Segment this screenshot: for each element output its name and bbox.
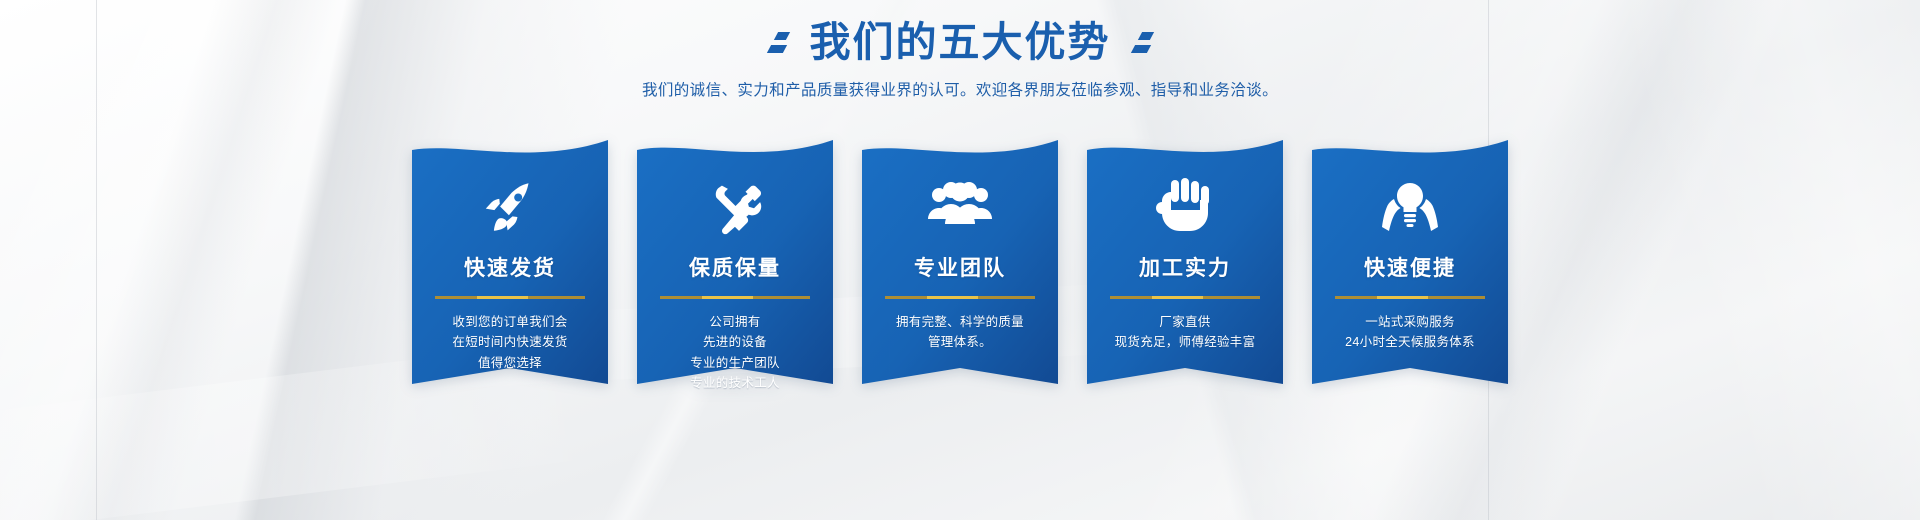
gold-divider <box>660 296 810 299</box>
rocket-icon <box>478 176 542 240</box>
description-line: 专业的生产团队 <box>690 353 780 373</box>
page-title: 我们的五大优势 <box>810 18 1111 66</box>
advantage-card-description: 公司拥有先进的设备专业的生产团队专业的技术工人 <box>690 312 780 393</box>
advantages-banner: 我们的五大优势 我们的诚信、实力和产品质量获得业界的认可。欢迎各界朋友莅临参观、… <box>0 0 1920 520</box>
description-line: 管理体系。 <box>896 332 1024 352</box>
description-line: 公司拥有 <box>690 312 780 332</box>
fist-hand-icon <box>1154 176 1216 240</box>
description-line: 一站式采购服务 <box>1345 312 1475 332</box>
advantage-card-description: 拥有完整、科学的质量管理体系。 <box>896 312 1024 353</box>
advantage-card[interactable]: 保质保量 公司拥有先进的设备专业的生产团队专业的技术工人 <box>637 140 833 398</box>
description-line: 收到您的订单我们会 <box>452 312 567 332</box>
advantage-card-title: 快速便捷 <box>1364 252 1456 282</box>
description-line: 拥有完整、科学的质量 <box>896 312 1024 332</box>
gold-divider <box>435 296 585 299</box>
advantage-card-title: 加工实力 <box>1139 252 1231 282</box>
advantage-card-content: 快速发货 收到您的订单我们会在短时间内快速发货值得您选择 <box>412 140 608 398</box>
advantage-card[interactable]: 加工实力 厂家直供现货充足，师傅经验丰富 <box>1087 140 1283 398</box>
advantage-card[interactable]: 快速发货 收到您的订单我们会在短时间内快速发货值得您选择 <box>412 140 608 398</box>
advantage-card-description: 厂家直供现货充足，师傅经验丰富 <box>1115 312 1256 353</box>
gold-divider <box>885 296 1035 299</box>
title-row: 我们的五大优势 <box>0 18 1920 66</box>
description-line: 现货充足，师傅经验丰富 <box>1115 332 1256 352</box>
advantage-card-content: 加工实力 厂家直供现货充足，师傅经验丰富 <box>1087 140 1283 398</box>
advantage-card-title: 保质保量 <box>689 252 781 282</box>
decoration-left-icon <box>769 32 788 53</box>
advantage-card-content: 专业团队 拥有完整、科学的质量管理体系。 <box>862 140 1058 398</box>
description-line: 在短时间内快速发货 <box>452 332 567 352</box>
advantage-card-description: 一站式采购服务24小时全天候服务体系 <box>1345 312 1475 353</box>
advantage-card-description: 收到您的订单我们会在短时间内快速发货值得您选择 <box>452 312 567 373</box>
advantage-card-title: 快速发货 <box>464 252 556 282</box>
section-header: 我们的五大优势 我们的诚信、实力和产品质量获得业界的认可。欢迎各界朋友莅临参观、… <box>0 18 1920 100</box>
decoration-right-icon <box>1133 32 1152 53</box>
gold-divider <box>1110 296 1260 299</box>
advantage-card[interactable]: 专业团队 拥有完整、科学的质量管理体系。 <box>862 140 1058 398</box>
description-line: 先进的设备 <box>690 332 780 352</box>
description-line: 专业的技术工人 <box>690 373 780 393</box>
hands-lightbulb-icon <box>1377 176 1443 240</box>
advantage-card-title: 专业团队 <box>914 252 1006 282</box>
description-line: 24小时全天候服务体系 <box>1345 332 1475 352</box>
advantage-card[interactable]: 快速便捷 一站式采购服务24小时全天候服务体系 <box>1312 140 1508 398</box>
advantage-card-content: 保质保量 公司拥有先进的设备专业的生产团队专业的技术工人 <box>637 140 833 398</box>
advantage-card-list: 快速发货 收到您的订单我们会在短时间内快速发货值得您选择 保质保量 公司拥有先进… <box>0 140 1920 398</box>
section-subtitle: 我们的诚信、实力和产品质量获得业界的认可。欢迎各界朋友莅临参观、指导和业务洽谈。 <box>0 78 1920 100</box>
description-line: 值得您选择 <box>452 353 567 373</box>
gold-divider <box>1335 296 1485 299</box>
description-line: 厂家直供 <box>1115 312 1256 332</box>
wrench-screwdriver-icon <box>703 176 767 240</box>
people-group-icon <box>926 176 994 240</box>
advantage-card-content: 快速便捷 一站式采购服务24小时全天候服务体系 <box>1312 140 1508 398</box>
